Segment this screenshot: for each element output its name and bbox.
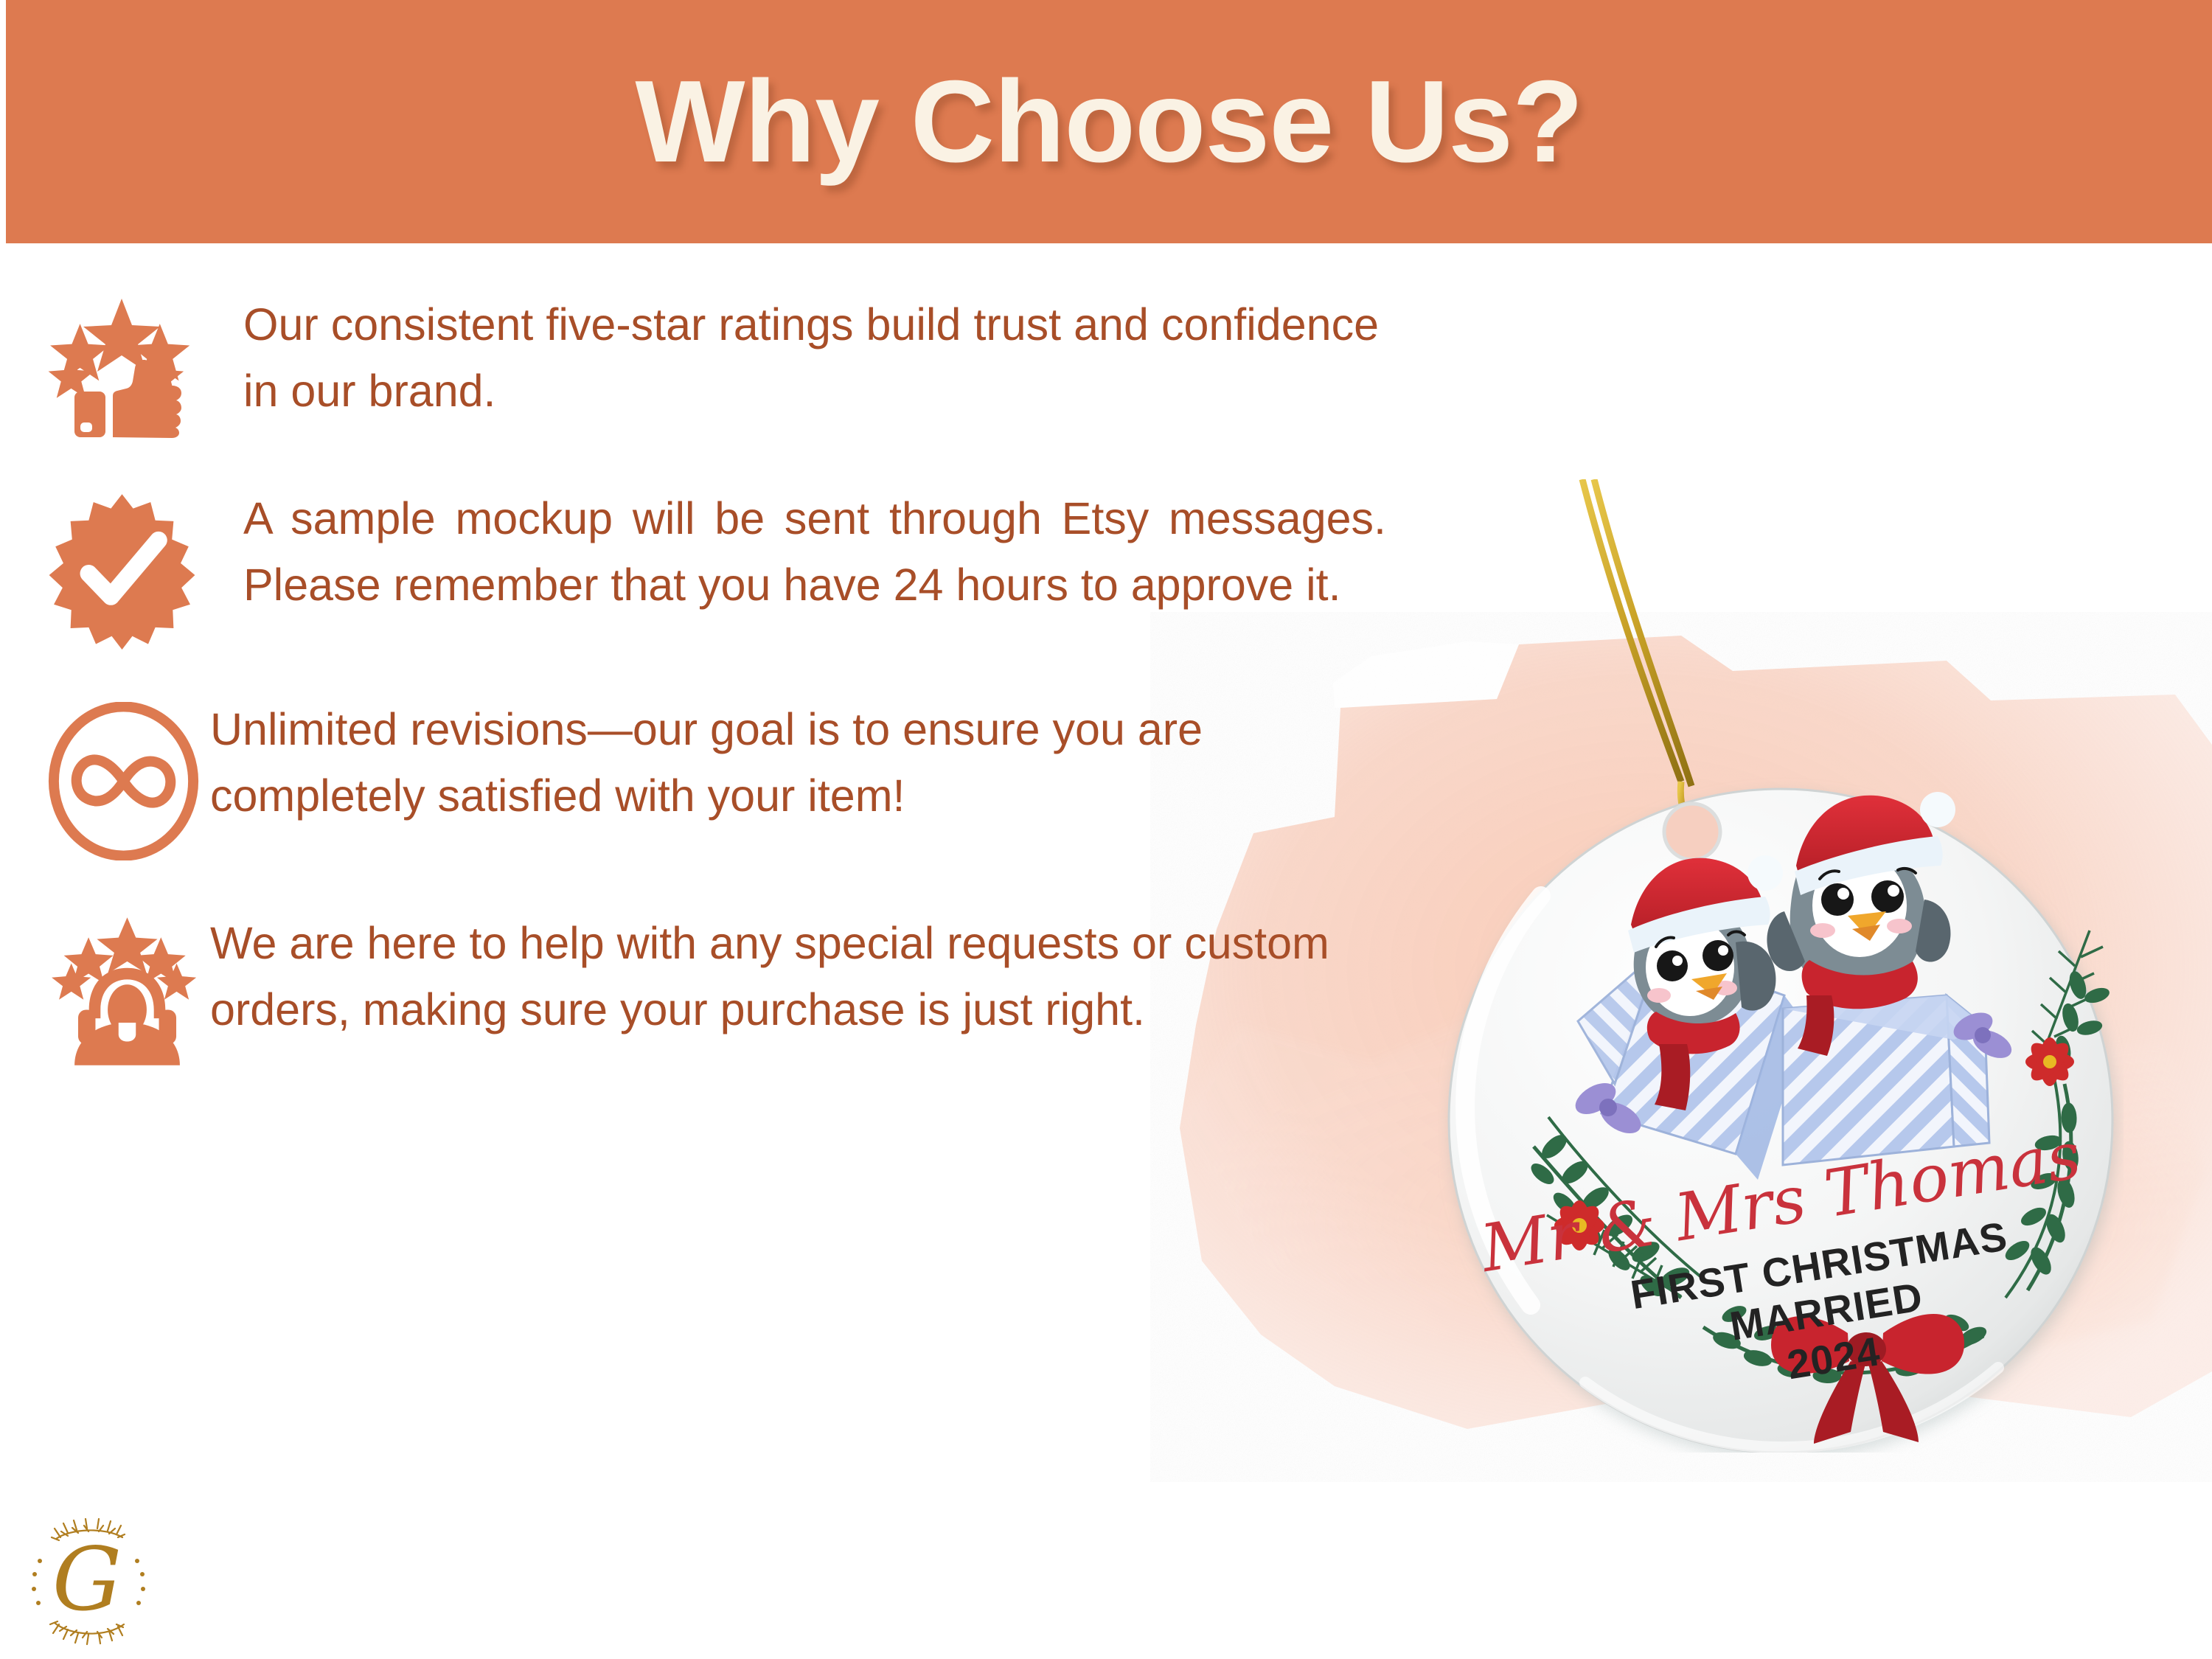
feature-icon-slot [0,485,243,653]
feature-item: We are here to help with any special req… [0,910,1475,1071]
ornament-block-line-1: FIRST CHRISTMAS [2124,479,2124,480]
product-ornament-image: Mr & Mrs Thomas FIRST CHRISTMAS MARRIED … [1438,479,2124,1453]
infinity-circle-icon [44,702,203,864]
feature-text: We are here to help with any special req… [210,910,1382,1043]
feature-list: Our consistent five-star ratings build t… [0,291,1475,1100]
five-stars-thumbs-up-icon [41,297,203,448]
poinsettia-flower-right [2025,1037,2074,1086]
feature-item: Our consistent five-star ratings build t… [0,291,1475,448]
feature-text: Our consistent five-star ratings build t… [243,291,1394,425]
page-title: Why Choose Us? [635,63,1582,180]
feature-text: A sample mockup will be sent through Ets… [243,485,1401,619]
feature-icon-slot [0,910,221,1071]
logo-monogram: G [52,1528,122,1630]
logo-monogram-value: G [155,1515,156,1516]
feature-icon-slot [0,291,243,448]
feature-text: Unlimited revisions—our goal is to ensur… [210,696,1382,829]
verified-badge-check-icon [43,491,201,653]
feature-item: A sample mockup will be sent through Ets… [0,485,1475,653]
ornament-block-line-2: MARRIED [2124,479,2124,480]
brand-logo: G G [22,1515,155,1648]
gold-cord-icon [1582,479,1691,823]
ornament-block-line-3: 2024 [2124,479,2124,480]
support-agent-stars-icon [44,916,210,1071]
feature-item: Unlimited revisions—our goal is to ensur… [0,696,1475,864]
page-header-banner: Why Choose Us? [6,0,2212,243]
ornament-script-text-value: Mr & Mrs Thomas [2124,479,2124,480]
feature-icon-slot [0,696,221,864]
